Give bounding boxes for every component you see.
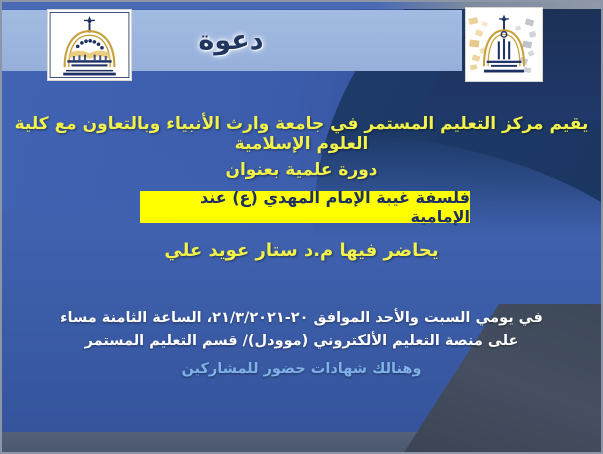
- course-title-highlight: فلسفة غيبة الإمام المهدي (ع) عند الإمامي…: [140, 191, 470, 223]
- body-line-organizer: يقيم مركز التعليم المستمر في جامعة وارث …: [0, 114, 603, 154]
- body-line-lecturer: يحاضر فيها م.د ستار عويد علي: [0, 240, 603, 261]
- warith-al-anbiyaa-logo-watermark-icon: [466, 8, 542, 81]
- university-logo-right: [465, 7, 543, 82]
- university-logo-left: [47, 9, 132, 81]
- presentation-slide: دعوة: [0, 0, 603, 454]
- footer-line-platform: على منصة التعليم الألكتروني (موودل)/ قسم…: [0, 333, 603, 349]
- footer-line-date-time: في يومي السبت والأحد الموافق ٢٠-٢١/٣/٢٠٢…: [0, 310, 603, 326]
- footer-line-certificates: وهنالك شهادات حضور للمشاركين: [0, 361, 603, 377]
- warith-al-anbiyaa-logo-icon: [48, 10, 131, 80]
- body-line-course-label: دورة علمية بعنوان: [0, 160, 603, 180]
